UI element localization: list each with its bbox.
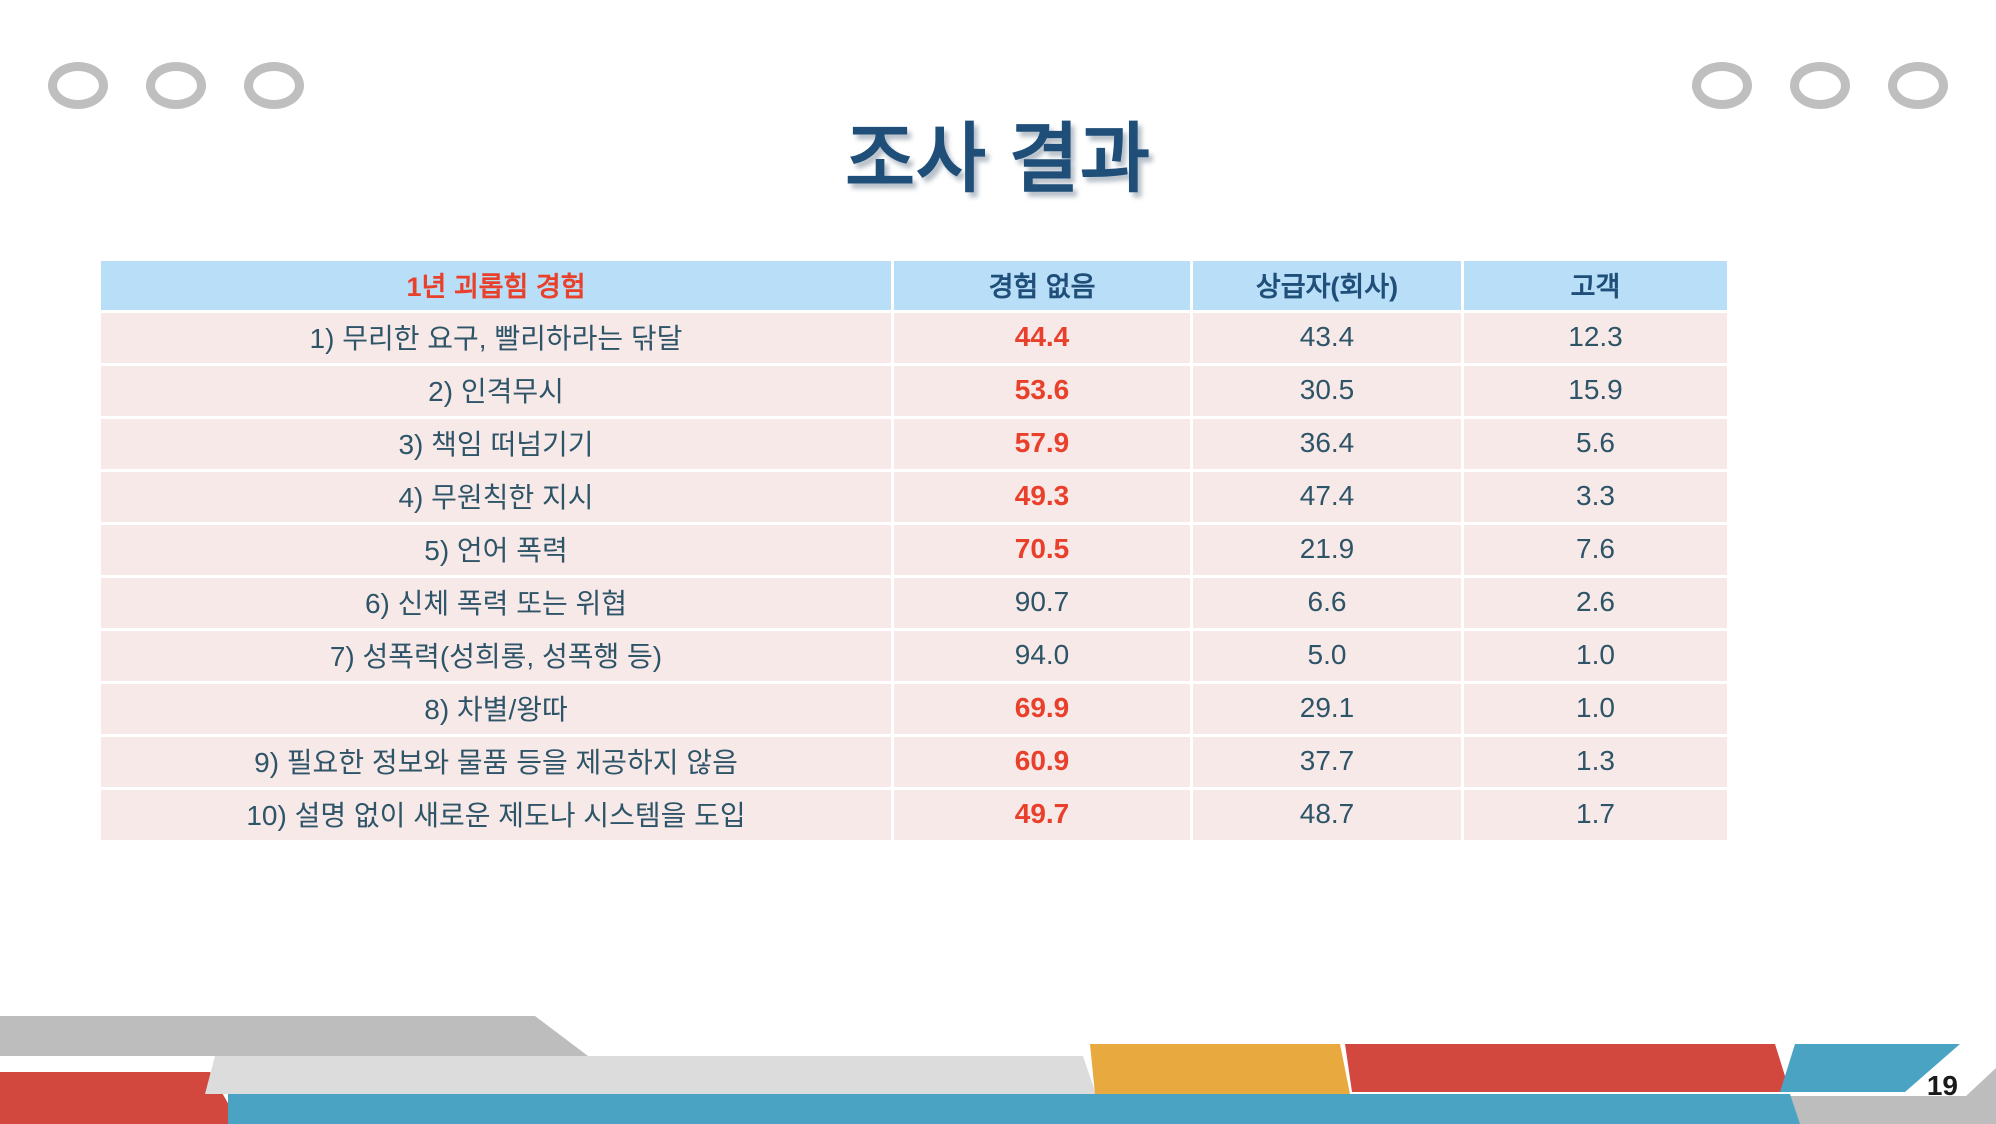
table-row: 10) 설명 없이 새로운 제도나 시스템을 도입49.748.71.7 [101, 790, 1727, 840]
slide: 조사 결과 1년 괴롭힘 경험 경험 없음 상급자(회사) 고객 1) 무리한 … [0, 0, 1996, 1124]
cell-superior: 6.6 [1193, 578, 1461, 628]
ring-ellipse-icon [1888, 62, 1948, 109]
table-row: 5) 언어 폭력70.521.97.6 [101, 525, 1727, 575]
banner-shape-blue-main [228, 1094, 1800, 1124]
table-body: 1) 무리한 요구, 빨리하라는 닦달44.443.412.32) 인격무시53… [101, 313, 1727, 840]
table-row: 7) 성폭력(성희롱, 성폭행 등)94.05.01.0 [101, 631, 1727, 681]
cell-customer: 2.6 [1464, 578, 1727, 628]
cell-superior: 29.1 [1193, 684, 1461, 734]
cell-customer: 3.3 [1464, 472, 1727, 522]
ring-ellipse-icon [1692, 62, 1752, 109]
cell-customer: 1.0 [1464, 684, 1727, 734]
banner-shape-red-left [0, 1072, 240, 1124]
cell-none: 70.5 [894, 525, 1190, 575]
table-row: 9) 필요한 정보와 물품 등을 제공하지 않음60.937.71.3 [101, 737, 1727, 787]
cell-customer: 7.6 [1464, 525, 1727, 575]
decorative-rings-left [48, 62, 304, 109]
cell-none: 94.0 [894, 631, 1190, 681]
cell-none: 57.9 [894, 419, 1190, 469]
cell-superior: 30.5 [1193, 366, 1461, 416]
ring-ellipse-icon [146, 62, 206, 109]
cell-none: 49.3 [894, 472, 1190, 522]
table-row: 6) 신체 폭력 또는 위협90.76.62.6 [101, 578, 1727, 628]
cell-superior: 5.0 [1193, 631, 1461, 681]
cell-customer: 1.3 [1464, 737, 1727, 787]
cell-customer: 1.7 [1464, 790, 1727, 840]
cell-customer: 1.0 [1464, 631, 1727, 681]
cell-none: 69.9 [894, 684, 1190, 734]
banner-shape-gray-light [205, 1056, 1096, 1094]
cell-none: 53.6 [894, 366, 1190, 416]
cell-none: 60.9 [894, 737, 1190, 787]
ring-ellipse-icon [48, 62, 108, 109]
cell-customer: 5.6 [1464, 419, 1727, 469]
ring-ellipse-icon [244, 62, 304, 109]
cell-none: 49.7 [894, 790, 1190, 840]
table-row: 8) 차별/왕따69.929.11.0 [101, 684, 1727, 734]
banner-shape-orange [1090, 1044, 1350, 1094]
cell-superior: 48.7 [1193, 790, 1461, 840]
cell-category: 8) 차별/왕따 [101, 684, 891, 734]
cell-category: 3) 책임 떠넘기기 [101, 419, 891, 469]
page-title: 조사 결과 [0, 122, 1996, 198]
column-header-superior: 상급자(회사) [1193, 261, 1461, 310]
cell-superior: 37.7 [1193, 737, 1461, 787]
cell-category: 10) 설명 없이 새로운 제도나 시스템을 도입 [101, 790, 891, 840]
table-row: 4) 무원칙한 지시49.347.43.3 [101, 472, 1727, 522]
cell-superior: 43.4 [1193, 313, 1461, 363]
decorative-banner: 19 [0, 964, 1996, 1124]
cell-category: 7) 성폭력(성희롱, 성폭행 등) [101, 631, 891, 681]
banner-shape-gray-dark [0, 1016, 588, 1056]
cell-category: 6) 신체 폭력 또는 위협 [101, 578, 891, 628]
column-header-none: 경험 없음 [894, 261, 1190, 310]
cell-category: 1) 무리한 요구, 빨리하라는 닦달 [101, 313, 891, 363]
ring-ellipse-icon [1790, 62, 1850, 109]
cell-none: 44.4 [894, 313, 1190, 363]
column-header-category: 1년 괴롭힘 경험 [101, 261, 891, 310]
banner-shape-red-right [1345, 1044, 1790, 1092]
table-row: 3) 책임 떠넘기기57.936.45.6 [101, 419, 1727, 469]
results-table-container: 1년 괴롭힘 경험 경험 없음 상급자(회사) 고객 1) 무리한 요구, 빨리… [98, 258, 1718, 843]
cell-superior: 36.4 [1193, 419, 1461, 469]
cell-customer: 15.9 [1464, 366, 1727, 416]
cell-category: 4) 무원칙한 지시 [101, 472, 891, 522]
cell-category: 5) 언어 폭력 [101, 525, 891, 575]
cell-customer: 12.3 [1464, 313, 1727, 363]
cell-superior: 47.4 [1193, 472, 1461, 522]
decorative-rings-right [1692, 62, 1948, 109]
page-number: 19 [1927, 1070, 1958, 1102]
table-header: 1년 괴롭힘 경험 경험 없음 상급자(회사) 고객 [101, 261, 1727, 310]
results-table: 1년 괴롭힘 경험 경험 없음 상급자(회사) 고객 1) 무리한 요구, 빨리… [98, 258, 1730, 843]
table-row: 2) 인격무시53.630.515.9 [101, 366, 1727, 416]
column-header-customer: 고객 [1464, 261, 1727, 310]
table-row: 1) 무리한 요구, 빨리하라는 닦달44.443.412.3 [101, 313, 1727, 363]
cell-category: 2) 인격무시 [101, 366, 891, 416]
cell-category: 9) 필요한 정보와 물품 등을 제공하지 않음 [101, 737, 891, 787]
cell-none: 90.7 [894, 578, 1190, 628]
table-header-row: 1년 괴롭힘 경험 경험 없음 상급자(회사) 고객 [101, 261, 1727, 310]
cell-superior: 21.9 [1193, 525, 1461, 575]
